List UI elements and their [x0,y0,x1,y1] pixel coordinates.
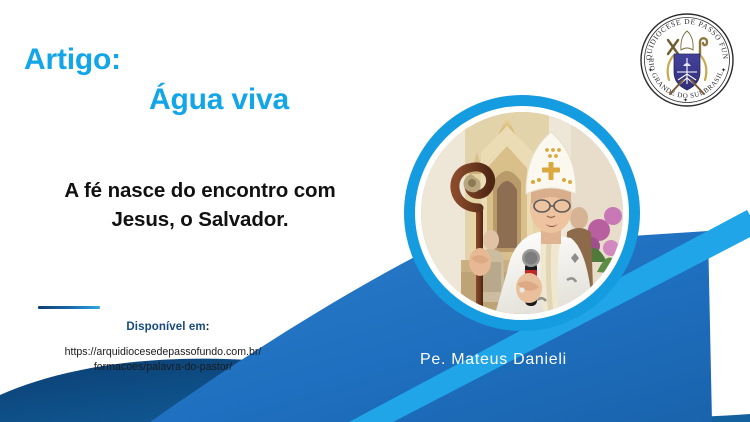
archdiocese-logo: ARQUIDIOCESE DE PASSO FUNDO RIO GRANDE D… [637,10,737,110]
headline: A fé nasce do encontro com Jesus, o Salv… [14,176,386,234]
seal-star-left: ✦ [648,67,653,74]
headline-line-2: Jesus, o Salvador. [14,205,386,234]
seal-star-bottom: ✦ [683,97,688,104]
speaker-photo-illustration [421,112,623,314]
hand-on-microphone [516,273,542,303]
hand-on-crozier [469,248,491,276]
slide-title: Artigo: Água viva [24,44,354,115]
availability-divider [38,306,100,309]
archdiocese-seal-icon: ARQUIDIOCESE DE PASSO FUNDO RIO GRANDE D… [637,10,737,110]
availability-url-line-2: formacoes/palavra-do-pastor/ [22,360,304,375]
availability-label-text: Disponível em [126,321,205,333]
seal-star-right: ✦ [721,67,726,74]
availability-url-line-1: https://arquidiocesedepassofundo.com.br/ [22,345,304,360]
title-label: Artigo: [24,44,354,76]
availability-label: Disponível em: [32,321,304,333]
availability-url[interactable]: https://arquidiocesedepassofundo.com.br/… [22,345,304,376]
headline-line-1: A fé nasce do encontro com [14,176,386,205]
availability-block: Disponível em: https://arquidiocesedepas… [22,306,304,376]
speaker-name: Pe. Mateus Danieli [420,351,567,369]
title-subject: Água viva [24,84,354,116]
speaker-photo [421,112,623,314]
slide-canvas: Artigo: Água viva A fé nasce do encontro… [0,0,750,422]
availability-label-colon: : [206,321,210,333]
speaker-photo-ring [404,95,640,331]
